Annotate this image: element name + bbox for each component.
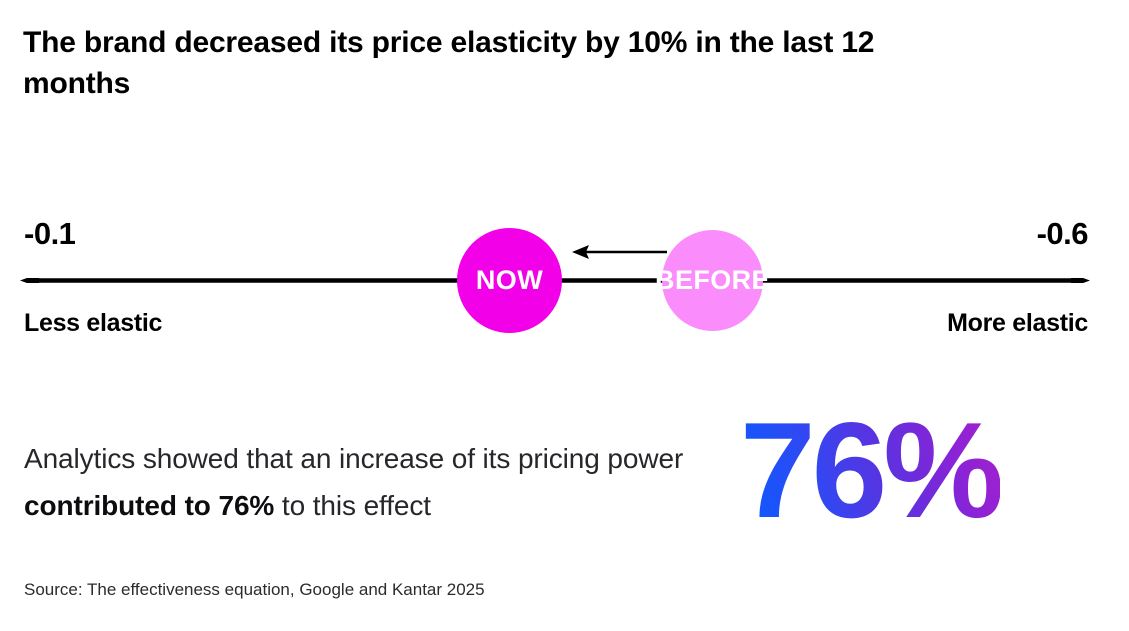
source-note: Source: The effectiveness equation, Goog… <box>24 579 485 601</box>
arrow-left-icon <box>572 240 667 264</box>
marker-before-label: BEFORE <box>655 267 770 294</box>
elasticity-scale: -0.1 Less elastic -0.6 More elastic BEFO… <box>0 215 1129 350</box>
axis-value-left: -0.1 <box>24 215 75 253</box>
axis-caption-left: Less elastic <box>24 308 162 338</box>
axis-caption-right: More elastic <box>947 308 1088 338</box>
marker-now-label: NOW <box>476 267 543 294</box>
infographic-canvas: The brand decreased its price elasticity… <box>0 0 1129 631</box>
headline-stat-value: 76% <box>740 402 1000 538</box>
marker-now: NOW <box>457 228 562 333</box>
axis-value-right: -0.6 <box>1037 215 1088 253</box>
explanation-lead: Analytics showed that an increase of its… <box>24 443 683 474</box>
page-title: The brand decreased its price elasticity… <box>23 22 953 104</box>
explanation-trail: to this effect <box>274 490 431 521</box>
explanation-text: Analytics showed that an increase of its… <box>24 435 724 529</box>
explanation-emphasis: contributed to 76% <box>24 490 274 521</box>
marker-before: BEFORE <box>662 230 763 331</box>
